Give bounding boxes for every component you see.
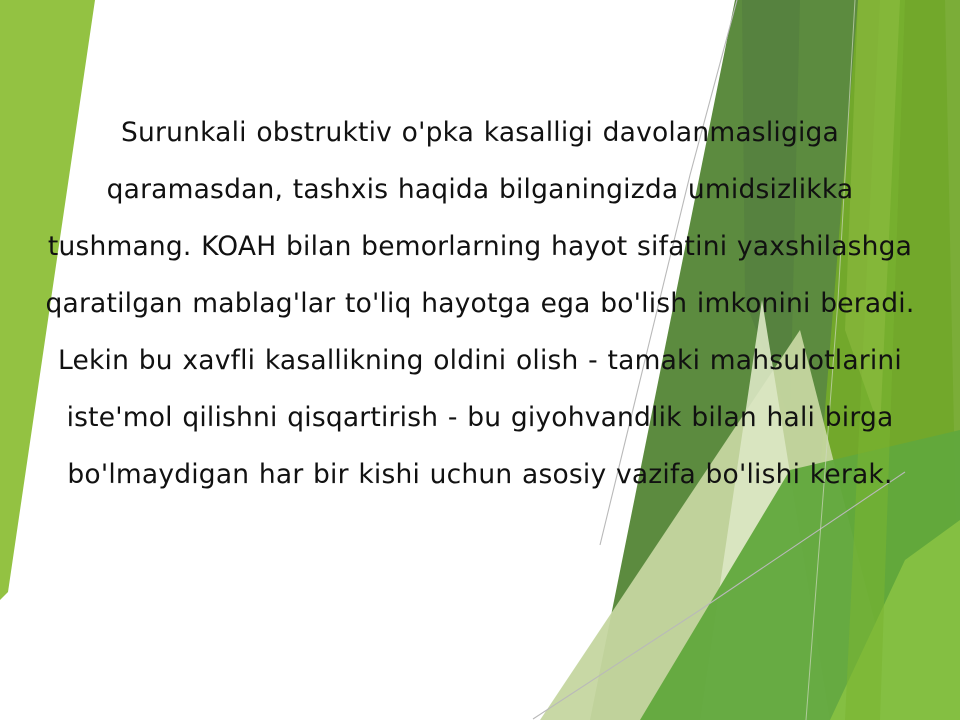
slide-body-text: Surunkali obstruktiv o'pka kasalligi dav… bbox=[40, 104, 920, 503]
slide-canvas: Surunkali obstruktiv o'pka kasalligi dav… bbox=[0, 0, 960, 720]
